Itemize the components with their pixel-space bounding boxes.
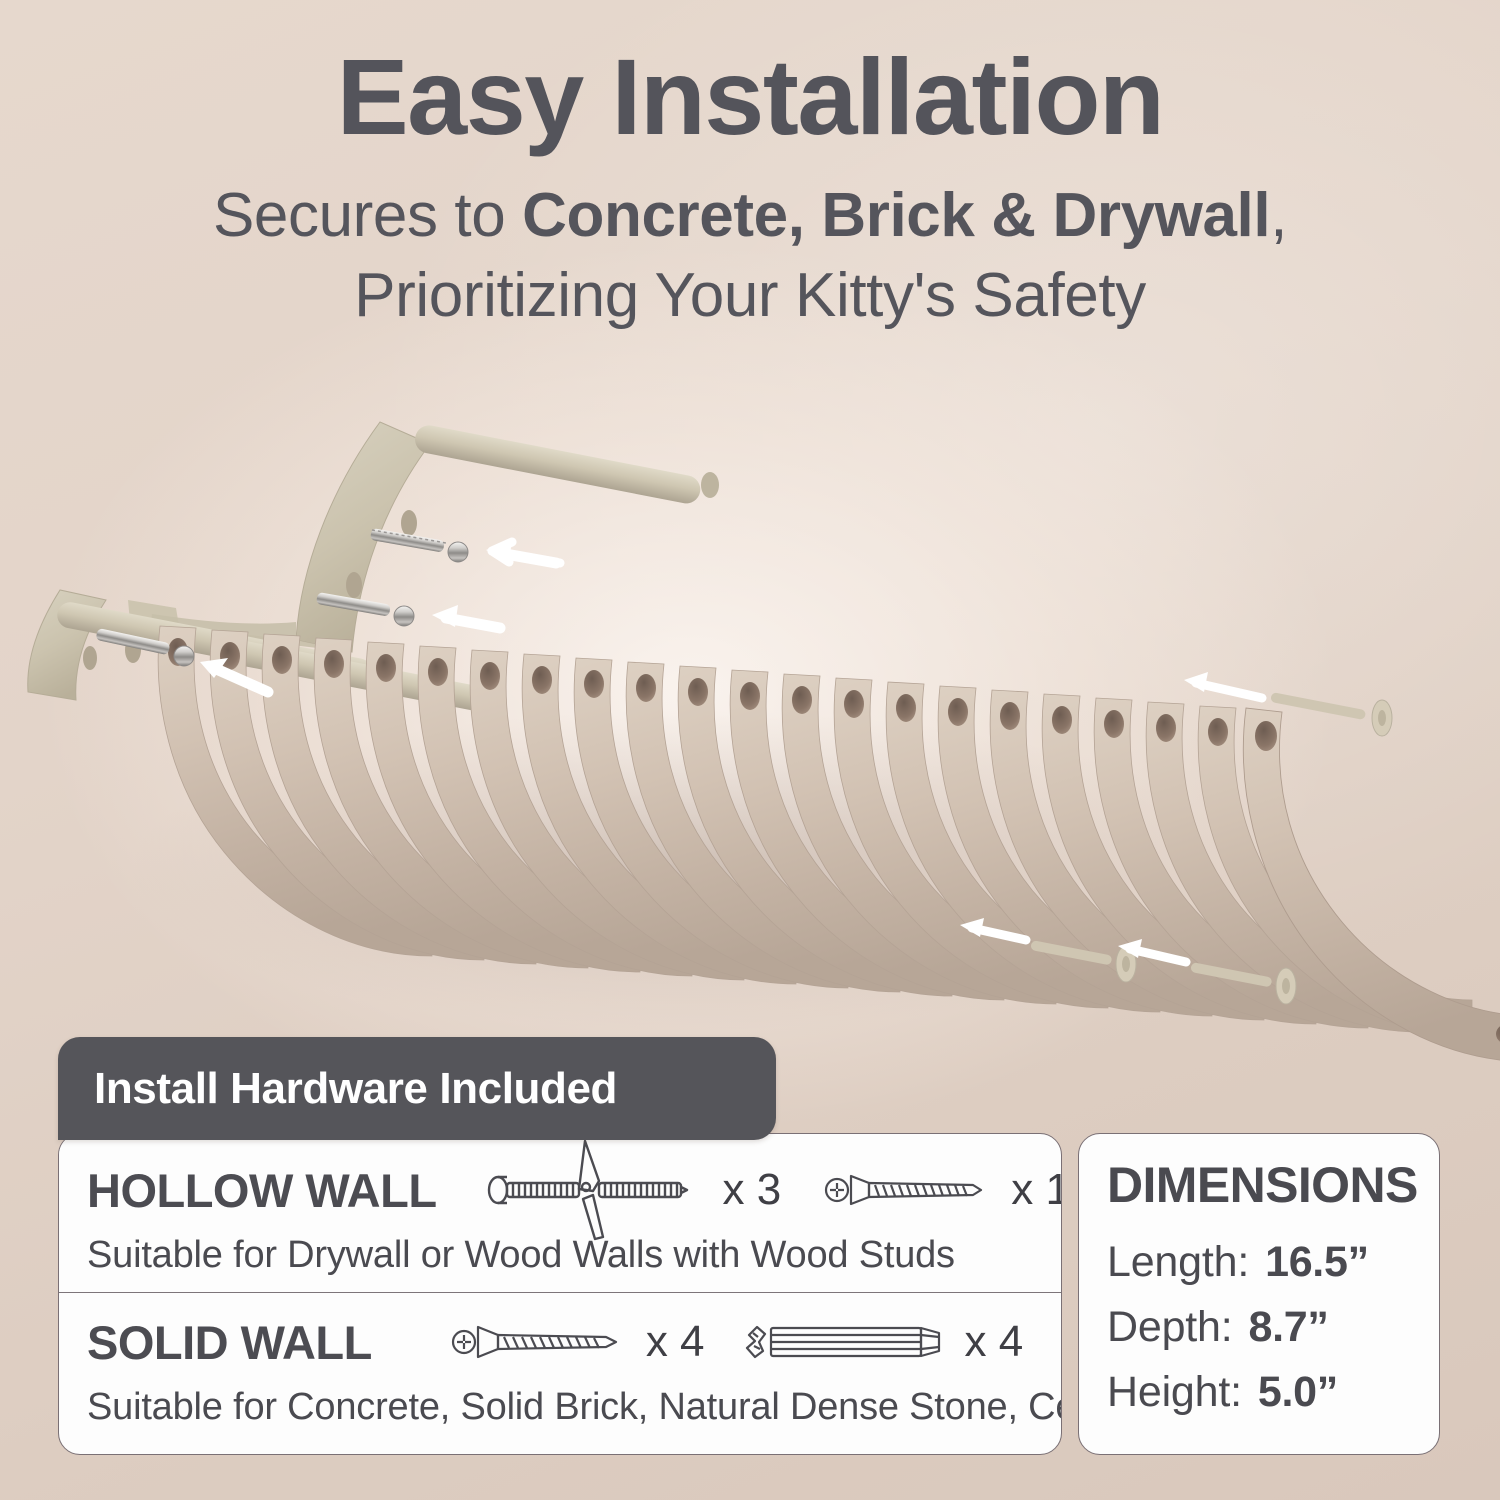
toggle-bolt-icon [481, 1137, 709, 1243]
screw-upper-left [370, 528, 468, 562]
hollow-wall-qty-2: x 1 [1011, 1165, 1062, 1215]
dimension-value-height: 5.0” [1258, 1368, 1338, 1417]
hardware-card: HOLLOW WALL [58, 1133, 1062, 1455]
dimension-label-length: Length: [1107, 1238, 1249, 1287]
dimension-row-height: Height: 5.0” [1107, 1368, 1439, 1417]
solid-wall-item-1: x 4 [450, 1315, 705, 1369]
dimension-row-depth: Depth: 8.7” [1107, 1303, 1439, 1352]
hollow-wall-note: Suitable for Drywall or Wood Walls with … [87, 1234, 1033, 1277]
subtitle-line-2: Prioritizing Your Kitty's Safety [0, 256, 1500, 335]
hardware-row-hollow-wall: HOLLOW WALL [59, 1142, 1061, 1292]
dimension-value-depth: 8.7” [1249, 1303, 1329, 1352]
bolt-upper-right [1270, 692, 1392, 736]
wall-anchor-icon [741, 1315, 951, 1369]
dimension-label-depth: Depth: [1107, 1303, 1233, 1352]
subtitle-tail: , [1270, 181, 1287, 250]
dimension-row-length: Length: 16.5” [1107, 1238, 1439, 1287]
install-hardware-tab-label: Install Hardware Included [94, 1064, 617, 1114]
subtitle-lead: Secures to [213, 181, 522, 250]
hollow-wall-item-1: x 3 [481, 1137, 782, 1243]
page-subtitle: Secures to Concrete, Brick & Drywall, Pr… [0, 176, 1500, 335]
phillips-screw-icon [823, 1163, 997, 1217]
solid-wall-qty-2: x 4 [965, 1317, 1024, 1367]
dimensions-card: DIMENSIONS Length: 16.5” Depth: 8.7” Hei… [1078, 1133, 1440, 1455]
hollow-wall-qty-1: x 3 [723, 1165, 782, 1215]
solid-wall-note: Suitable for Concrete, Solid Brick, Natu… [87, 1386, 1033, 1429]
subtitle-emphasis: Concrete, Brick & Drywall [522, 181, 1270, 250]
install-hardware-tab: Install Hardware Included [58, 1037, 776, 1140]
dimensions-list: Length: 16.5” Depth: 8.7” Height: 5.0” [1107, 1238, 1439, 1417]
phillips-screw-icon [450, 1315, 632, 1369]
bracket-rod-mid [210, 635, 504, 713]
hollow-wall-item-2: x 1 [823, 1163, 1062, 1217]
dimension-label-height: Height: [1107, 1368, 1242, 1417]
hollow-wall-title: HOLLOW WALL [87, 1163, 437, 1218]
bracket-rod-upper [413, 423, 719, 506]
hardware-row-solid-wall: SOLID WALL x 4 [59, 1294, 1061, 1452]
dimension-value-length: 16.5” [1265, 1238, 1369, 1287]
product-illustration [0, 400, 1500, 1080]
solid-wall-qty-1: x 4 [646, 1317, 705, 1367]
solid-wall-item-2: x 4 [741, 1315, 1024, 1369]
dimensions-title: DIMENSIONS [1107, 1160, 1439, 1210]
header-block: Easy Installation Secures to Concrete, B… [0, 42, 1500, 335]
info-panel: Install Hardware Included HOLLOW WALL [58, 1037, 1440, 1457]
solid-wall-title: SOLID WALL [87, 1315, 372, 1370]
page-title: Easy Installation [0, 42, 1500, 152]
